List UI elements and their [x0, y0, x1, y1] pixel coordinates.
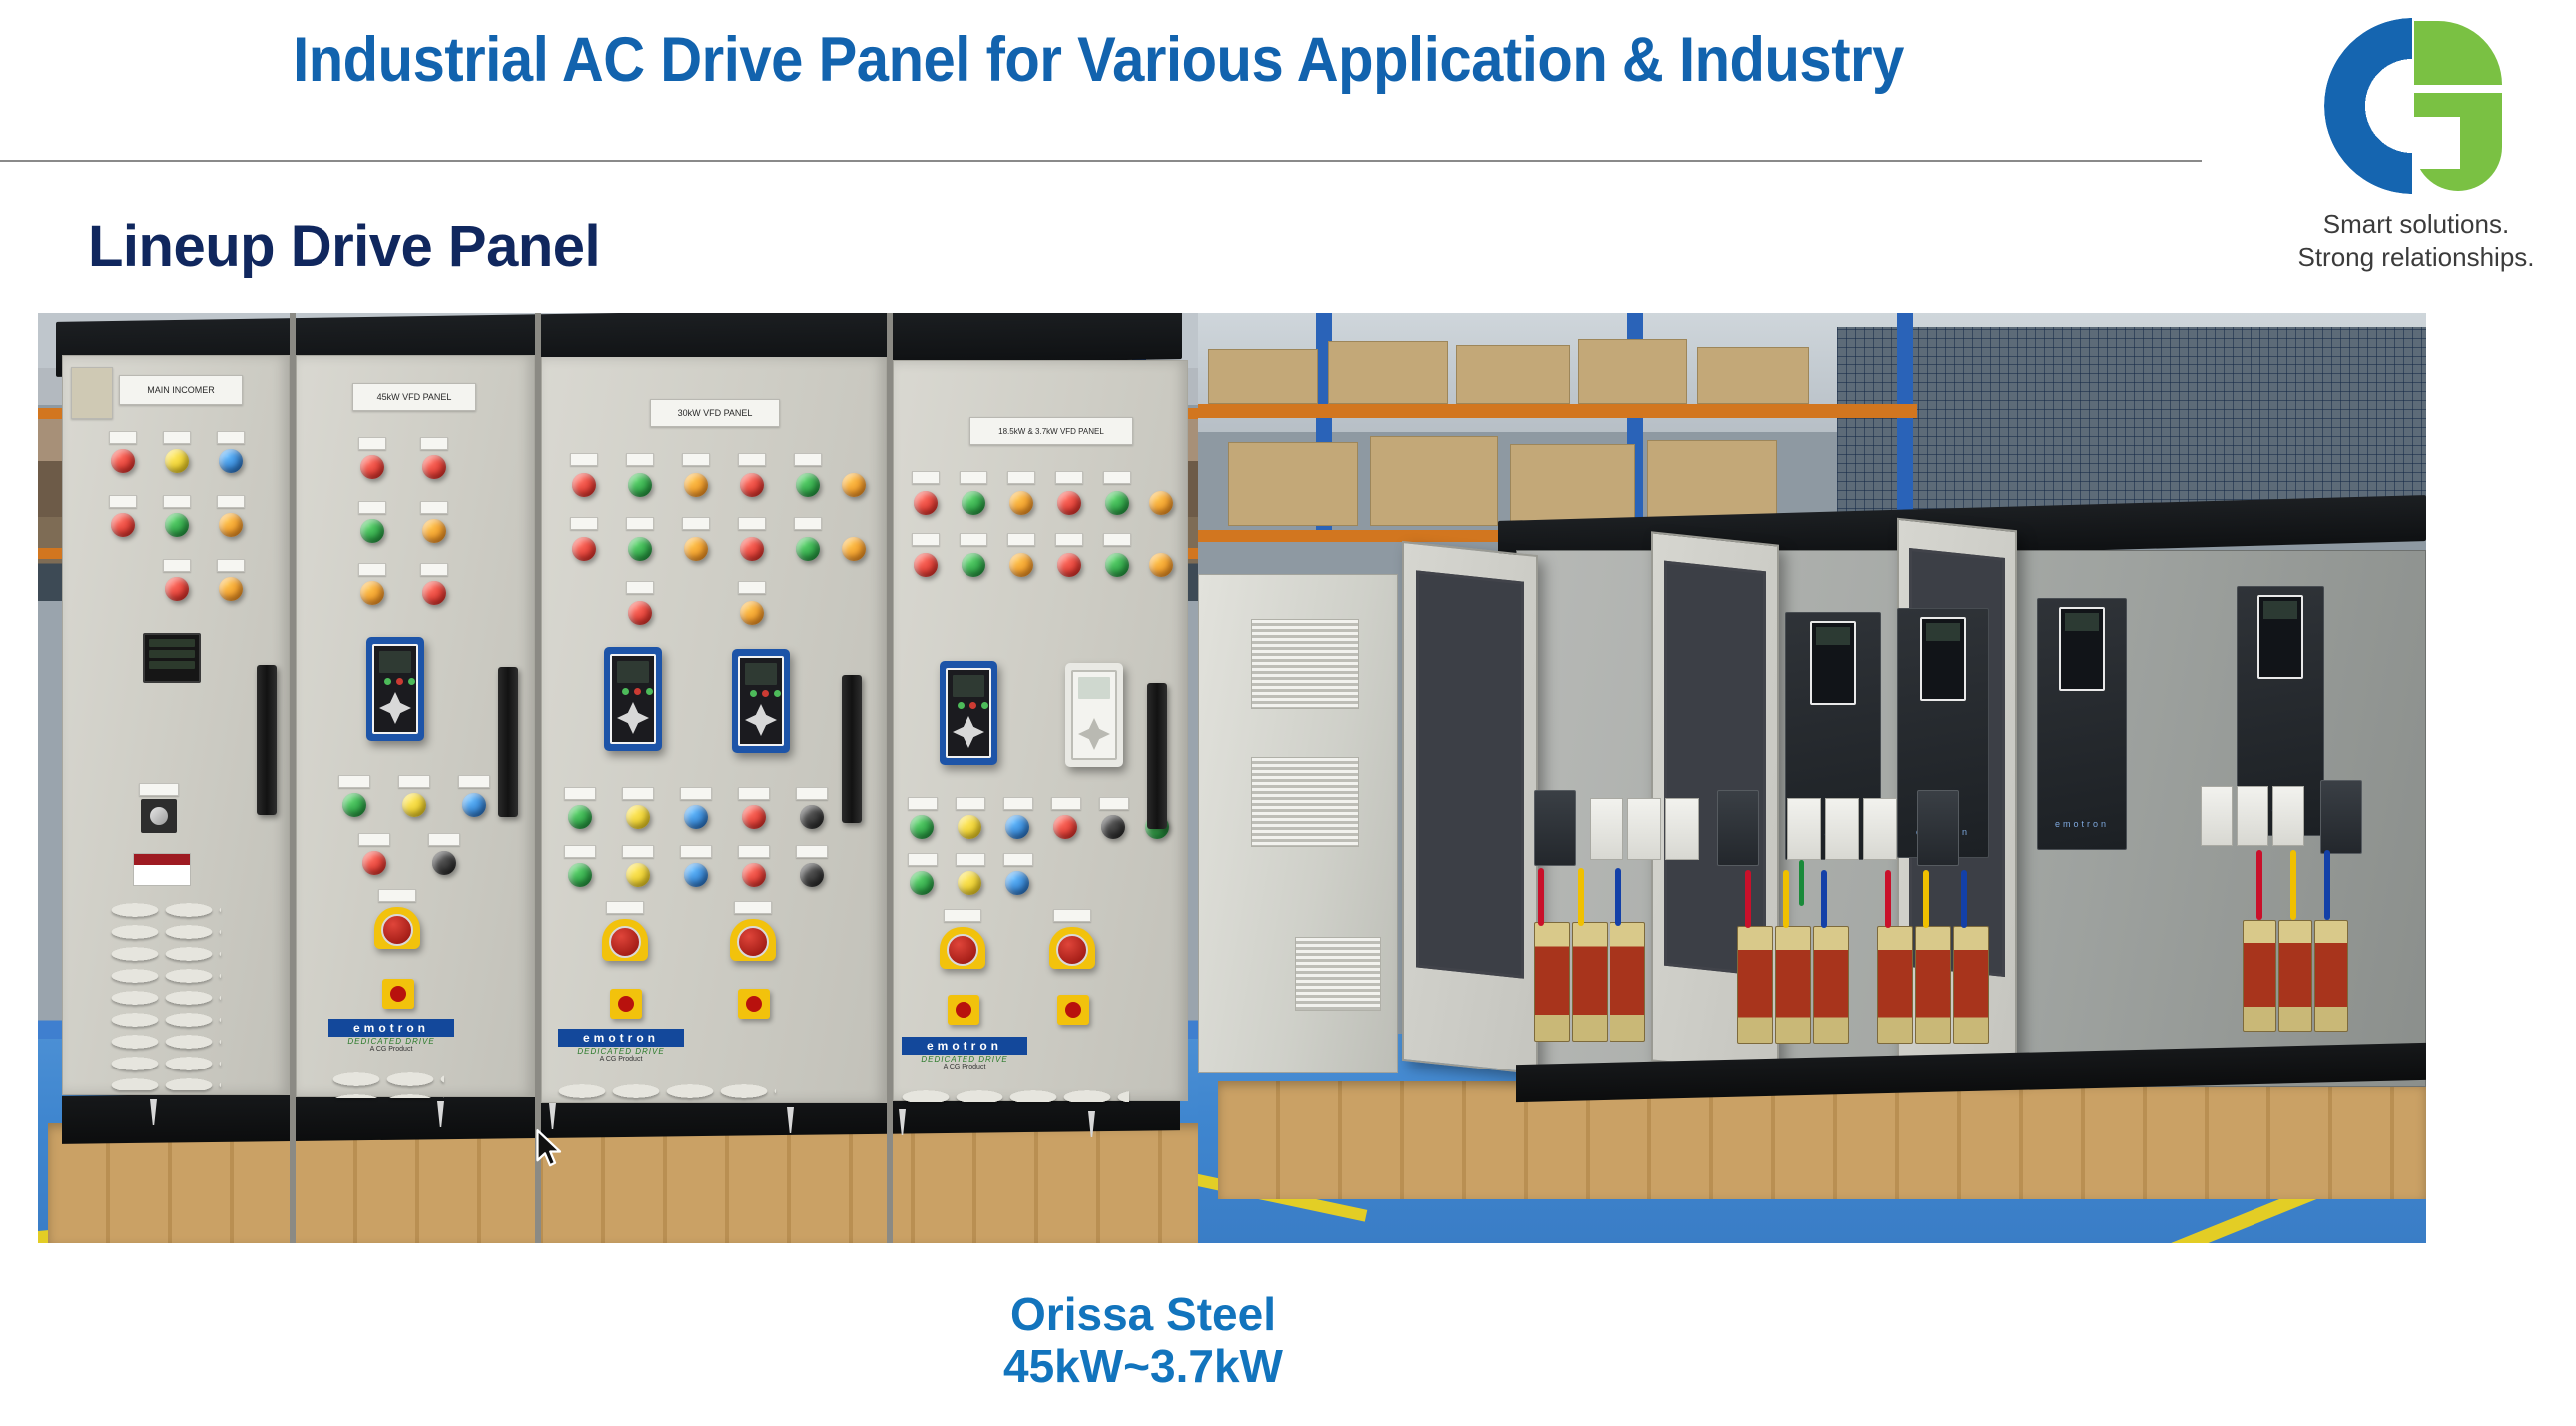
lamp-label	[1103, 533, 1131, 546]
vfd-keypad[interactable]	[1810, 621, 1856, 705]
lamp-label	[570, 517, 598, 530]
panel-nameplate: 30kW VFD PANEL	[650, 399, 780, 427]
button-label	[680, 845, 712, 858]
line-reactor	[1953, 926, 1989, 1044]
button-label	[956, 797, 985, 810]
pushbutton-green[interactable]	[910, 815, 934, 839]
lamp-label	[682, 517, 710, 530]
emotron-subtitle: DEDICATED DRIVE	[558, 1047, 684, 1056]
indicator-lamp-amber	[1149, 553, 1173, 577]
lamp-label	[912, 533, 940, 546]
vfd-hmi-keypad[interactable]	[1065, 663, 1123, 767]
emergency-stop-button[interactable]	[737, 926, 769, 958]
power-wire-red	[1885, 870, 1891, 928]
emotron-cg-endorsement: A CG Product	[902, 1064, 1027, 1070]
contactor	[1627, 798, 1661, 860]
pushbutton-red[interactable]	[362, 851, 386, 875]
hmi-status-dot-green	[646, 688, 653, 695]
estop-label	[606, 901, 644, 914]
estop-label	[734, 901, 772, 914]
button-label	[338, 775, 370, 788]
indicator-lamp-red	[422, 581, 446, 605]
stored-box	[1328, 341, 1448, 404]
pushbutton-green[interactable]	[342, 793, 366, 817]
logo-g-cut	[2414, 117, 2460, 169]
power-wire-blue	[1615, 868, 1621, 926]
contactor	[1665, 798, 1699, 860]
indicator-lamp-amber	[219, 513, 243, 537]
lamp-label	[163, 559, 191, 572]
panel-30kw-vfd[interactable]: 30kW VFD PANEL	[541, 356, 887, 1103]
button-label	[908, 797, 938, 810]
lamp-label	[1007, 471, 1035, 484]
emergency-stop-guard	[1049, 927, 1095, 969]
pushbutton-red[interactable]	[742, 863, 766, 887]
stored-box	[1578, 339, 1687, 404]
lamp-label	[1055, 533, 1083, 546]
indicator-lamp-red	[360, 455, 384, 479]
line-reactor	[1534, 922, 1570, 1042]
lamp-label	[960, 471, 987, 484]
hmi-status-dot-green	[774, 690, 781, 697]
lamp-label	[738, 581, 766, 594]
indicator-lamp-red	[111, 513, 135, 537]
stored-box	[1208, 349, 1318, 404]
hmi-status-dot-red	[762, 690, 769, 697]
circuit-breaker	[2320, 780, 2362, 854]
pushbutton-blue[interactable]	[1005, 871, 1029, 895]
lamp-label	[217, 431, 245, 444]
emotron-cg-endorsement: A CG Product	[558, 1056, 684, 1063]
line-reactor	[2278, 920, 2312, 1032]
hmi-status-dot-green	[750, 690, 757, 697]
indicator-lamp-red	[740, 537, 764, 561]
cg-logo-mark	[2324, 18, 2508, 194]
lamp-label	[217, 559, 245, 572]
lamp-label	[570, 453, 598, 466]
button-label	[1003, 853, 1033, 866]
closed-cabinet-with-louvers[interactable]	[1198, 574, 1398, 1073]
indicator-lamp-amber	[684, 473, 708, 497]
button-label	[398, 775, 430, 788]
danger-high-voltage-label	[133, 853, 191, 886]
emotron-brand-badge: emotron DEDICATED DRIVE A CG Product	[558, 1029, 684, 1063]
lamp-label	[420, 437, 448, 450]
hmi-screen	[738, 656, 784, 746]
button-label	[680, 787, 712, 800]
power-wire-red	[1538, 868, 1544, 926]
stored-box	[1510, 444, 1635, 526]
indicator-lamp-red	[572, 537, 596, 561]
vfd-keypad-screen	[2263, 601, 2297, 619]
button-label	[622, 845, 654, 858]
panel-nameplate: 18.5kW & 3.7kW VFD PANEL	[969, 417, 1133, 445]
lamp-label	[109, 495, 137, 508]
rotary-knob	[746, 996, 762, 1012]
emotron-wordmark: emotron	[902, 1037, 1027, 1055]
button-label	[564, 787, 596, 800]
lamp-label	[626, 453, 654, 466]
circuit-breaker	[1717, 790, 1759, 866]
emotron-subtitle: DEDICATED DRIVE	[328, 1037, 454, 1046]
indicator-lamp-amber	[684, 537, 708, 561]
contactor	[1787, 798, 1821, 860]
rotary-isolator[interactable]	[610, 989, 642, 1019]
lamp-label	[626, 517, 654, 530]
rotary-knob	[1065, 1002, 1081, 1018]
pushbutton-blue[interactable]	[684, 863, 708, 887]
hmi-navigation-pad[interactable]	[745, 704, 777, 736]
contactor	[2237, 786, 2268, 846]
lamp-label	[626, 581, 654, 594]
selector-knob	[150, 807, 168, 825]
button-label	[564, 845, 596, 858]
vfd-hmi-keypad[interactable]	[604, 647, 662, 751]
lamp-label	[960, 533, 987, 546]
indicator-lamp-red	[1057, 491, 1081, 515]
indicator-lamp-amber	[740, 601, 764, 625]
door-window-frame	[1416, 570, 1524, 979]
stored-box	[1456, 345, 1570, 404]
rotary-isolator[interactable]	[738, 989, 770, 1019]
logo-green-g	[2414, 21, 2502, 191]
rating-plate	[71, 367, 113, 419]
line-reactor	[2243, 920, 2276, 1032]
photo-stage: MAIN INCOMER	[38, 313, 2426, 1243]
contactor	[1590, 798, 1623, 860]
vfd-keypad-screen	[2065, 613, 2099, 631]
hmi-display	[617, 661, 649, 683]
caption-line-customer: Orissa Steel	[0, 1288, 2286, 1340]
button-label	[908, 853, 938, 866]
rotary-isolator[interactable]	[382, 979, 414, 1009]
photo-caption: Orissa Steel 45kW~3.7kW	[0, 1288, 2286, 1392]
hmi-status-dot-green	[622, 688, 629, 695]
contactor	[2272, 786, 2304, 846]
emotron-brand-badge: emotron DEDICATED DRIVE A CG Product	[902, 1037, 1027, 1070]
lamp-label	[794, 517, 822, 530]
button-label	[796, 845, 828, 858]
section-heading: Lineup Drive Panel	[88, 213, 600, 280]
selector-label	[139, 783, 179, 796]
emotron-wordmark: emotron	[2038, 819, 2126, 829]
emergency-stop-button[interactable]	[381, 914, 413, 946]
ventilation-louvers	[109, 901, 221, 1090]
button-label	[622, 787, 654, 800]
pushbutton-yellow[interactable]	[958, 871, 981, 895]
lamp-label	[738, 517, 766, 530]
contactor	[1863, 798, 1897, 860]
lamp-label	[1007, 533, 1035, 546]
lamp-label	[109, 431, 137, 444]
earth-wire-green	[1799, 860, 1804, 906]
lamp-label	[163, 431, 191, 444]
indicator-lamp-green	[165, 513, 189, 537]
contactor	[2201, 786, 2233, 846]
lamp-label	[420, 501, 448, 514]
indicator-lamp-green	[796, 473, 820, 497]
slide-header: Industrial AC Drive Panel for Various Ap…	[0, 0, 2576, 170]
pushbutton-black[interactable]	[432, 851, 456, 875]
ventilation-louver-grille	[1295, 937, 1381, 1011]
button-label	[1099, 797, 1129, 810]
page-title: Industrial AC Drive Panel for Various Ap…	[88, 24, 2109, 96]
stored-box	[1697, 347, 1809, 404]
hmi-navigation-pad[interactable]	[617, 702, 649, 734]
meter-display-row	[149, 650, 195, 658]
ventilation-louvers	[900, 1088, 1129, 1102]
vfd-keypad[interactable]	[2257, 595, 2303, 679]
caption-line-rating: 45kW~3.7kW	[0, 1340, 2286, 1392]
button-label	[358, 833, 390, 846]
meter-display-row	[149, 661, 195, 669]
lamp-label	[358, 437, 386, 450]
hmi-status-dot-green	[981, 702, 988, 709]
danger-text-area	[134, 865, 190, 885]
ventilation-louvers	[330, 1070, 444, 1098]
power-wire-red	[1745, 870, 1751, 928]
hmi-screen	[1071, 670, 1117, 760]
rotary-knob	[956, 1002, 971, 1018]
vfd-keypad[interactable]	[2059, 607, 2105, 691]
indicator-lamp-amber	[1149, 491, 1173, 515]
pushbutton-yellow[interactable]	[626, 805, 650, 829]
button-label	[738, 845, 770, 858]
logo-tagline-line1: Smart solutions.	[2286, 208, 2546, 241]
emergency-stop-button[interactable]	[1056, 934, 1088, 966]
hmi-display	[379, 651, 411, 673]
rotary-isolator[interactable]	[948, 995, 979, 1025]
hmi-display	[745, 663, 777, 685]
hmi-screen	[946, 668, 991, 758]
line-reactor	[1877, 926, 1913, 1044]
indicator-lamp-red	[628, 601, 652, 625]
indicator-lamp-amber	[842, 537, 866, 561]
estop-label	[944, 909, 981, 922]
button-label	[428, 833, 460, 846]
ventilation-louver-grille	[1251, 757, 1359, 847]
stored-box	[1228, 442, 1358, 526]
lamp-label	[217, 495, 245, 508]
vfd-keypad[interactable]	[1920, 617, 1966, 701]
power-wire-blue	[1961, 870, 1967, 928]
vfd-hmi-keypad[interactable]	[366, 637, 424, 741]
indicator-lamp-amber	[219, 577, 243, 601]
power-wire-yellow	[2290, 850, 2296, 920]
indicator-lamp-red	[165, 577, 189, 601]
hmi-status-dot-green	[384, 678, 391, 685]
indicator-lamp-green	[1105, 491, 1129, 515]
logo-g-top	[2414, 21, 2502, 85]
button-label	[796, 787, 828, 800]
photo-lineup-panels-closed: MAIN INCOMER	[38, 313, 1198, 1243]
emotron-cg-endorsement: A CG Product	[328, 1046, 454, 1053]
emotron-wordmark: emotron	[328, 1019, 454, 1037]
power-wire-red	[2256, 850, 2262, 920]
pushbutton-blue[interactable]	[684, 805, 708, 829]
rotary-isolator[interactable]	[1057, 995, 1089, 1025]
emergency-stop-button[interactable]	[947, 934, 978, 966]
button-label	[458, 775, 490, 788]
logo-g-bar	[2414, 93, 2502, 115]
line-reactor	[1610, 922, 1645, 1042]
vfd-keypad-screen	[1816, 627, 1850, 645]
lamp-label	[163, 495, 191, 508]
estop-label	[378, 889, 416, 902]
pushbutton-yellow[interactable]	[958, 815, 981, 839]
hmi-screen	[372, 644, 418, 734]
indicator-lamp-green	[628, 537, 652, 561]
indicator-lamp-green	[1105, 553, 1129, 577]
indicator-lamp-green	[360, 519, 384, 543]
button-label	[738, 787, 770, 800]
meter-display-row	[149, 639, 195, 647]
indicator-lamp-amber	[842, 473, 866, 497]
circuit-breaker	[1917, 790, 1959, 866]
emergency-stop-guard	[940, 927, 985, 969]
hmi-status-dot-red	[969, 702, 976, 709]
line-reactor	[2314, 920, 2348, 1032]
panel-18-5kw-3-7kw-vfd[interactable]: 18.5kW & 3.7kW VFD PANEL	[893, 360, 1188, 1101]
indicator-lamp-red	[740, 473, 764, 497]
power-wire-blue	[1821, 870, 1827, 928]
door-handle[interactable]	[498, 667, 518, 817]
indicator-lamp-amber	[360, 581, 384, 605]
line-reactor	[1775, 926, 1811, 1044]
rotary-knob	[390, 986, 406, 1002]
pushbutton-yellow[interactable]	[626, 863, 650, 887]
hmi-navigation-pad[interactable]	[379, 692, 411, 724]
pushbutton-black[interactable]	[800, 805, 824, 829]
power-wire-yellow	[1923, 870, 1929, 928]
pushbutton-black[interactable]	[1101, 815, 1125, 839]
lamp-label	[738, 453, 766, 466]
hmi-display	[953, 675, 984, 697]
button-label	[1051, 797, 1081, 810]
indicator-lamp-red	[111, 449, 135, 473]
stored-box	[1370, 436, 1498, 526]
vfd-keypad-screen	[1926, 623, 1960, 641]
vfd-hmi-keypad[interactable]	[940, 661, 997, 765]
power-wire-yellow	[1578, 868, 1584, 926]
indicator-lamp-red	[1057, 553, 1081, 577]
lamp-label	[358, 501, 386, 514]
ventilation-louver-grille	[1251, 619, 1359, 709]
power-wire-blue	[2324, 850, 2330, 920]
logo-tagline-line2: Strong relationships.	[2286, 241, 2546, 274]
button-label	[1003, 797, 1033, 810]
lamp-label	[794, 453, 822, 466]
pushbutton-red[interactable]	[1053, 815, 1077, 839]
circuit-breaker	[1534, 790, 1576, 866]
hmi-navigation-pad[interactable]	[1078, 718, 1110, 750]
lamp-label	[682, 453, 710, 466]
line-reactor	[1737, 926, 1773, 1044]
indicator-lamp-yellow	[165, 449, 189, 473]
emergency-stop-button[interactable]	[609, 926, 641, 958]
hmi-status-dot-red	[396, 678, 403, 685]
danger-banner	[134, 854, 190, 865]
photo-panels-open-interior: emotron emotron emotron emotron	[1198, 313, 2426, 1243]
indicator-lamp-amber	[1009, 553, 1033, 577]
cg-logo: Smart solutions. Strong relationships.	[2286, 18, 2546, 268]
hmi-display	[1078, 677, 1110, 699]
hmi-navigation-pad[interactable]	[953, 716, 984, 748]
line-reactor	[1572, 922, 1608, 1042]
panel-nameplate: MAIN INCOMER	[119, 375, 243, 405]
estop-label	[1053, 909, 1091, 922]
hmi-status-dot-green	[408, 678, 415, 685]
indicator-lamp-red	[914, 553, 938, 577]
indicator-lamp-green	[962, 553, 985, 577]
indicator-lamp-red	[914, 491, 938, 515]
emergency-stop-guard	[374, 907, 420, 949]
indicator-lamp-amber	[1009, 491, 1033, 515]
logo-tagline: Smart solutions. Strong relationships.	[2286, 208, 2546, 274]
selector-switch[interactable]	[141, 799, 177, 833]
door-handle[interactable]	[842, 675, 862, 823]
pushbutton-green[interactable]	[568, 863, 592, 887]
button-label	[956, 853, 985, 866]
panel-main-incomer[interactable]: MAIN INCOMER	[62, 355, 290, 1095]
emotron-wordmark: emotron	[558, 1029, 684, 1047]
rack-beam	[1198, 404, 1917, 418]
indicator-lamp-blue	[219, 449, 243, 473]
power-wire-yellow	[1783, 870, 1789, 928]
digital-multifunction-meter[interactable]	[143, 633, 201, 683]
vfd-drive-unit[interactable]: emotron	[2037, 598, 2127, 850]
lamp-label	[1055, 471, 1083, 484]
pushbutton-green[interactable]	[910, 871, 934, 895]
lamp-label	[912, 471, 940, 484]
wooden-pallet	[1218, 1081, 2426, 1199]
open-cabinet-door[interactable]	[1402, 541, 1538, 1074]
emergency-stop-guard	[730, 919, 776, 961]
lamp-label	[420, 563, 448, 576]
hmi-screen	[610, 654, 656, 744]
line-reactor	[1813, 926, 1849, 1044]
panel-nameplate: 45kW VFD PANEL	[352, 383, 476, 411]
lamp-label	[358, 563, 386, 576]
vfd-hmi-keypad[interactable]	[732, 649, 790, 753]
indicator-lamp-green	[962, 491, 985, 515]
indicator-lamp-green	[628, 473, 652, 497]
indicator-lamp-red	[572, 473, 596, 497]
door-handle[interactable]	[257, 665, 277, 815]
indicator-lamp-red	[422, 455, 446, 479]
emergency-stop-guard	[602, 919, 648, 961]
emotron-brand-badge: emotron DEDICATED DRIVE A CG Product	[328, 1019, 454, 1053]
hmi-status-dot-red	[634, 688, 641, 695]
pushbutton-yellow[interactable]	[402, 793, 426, 817]
hmi-status-dot-green	[958, 702, 965, 709]
indicator-lamp-green	[796, 537, 820, 561]
rotary-knob	[618, 996, 634, 1012]
ventilation-louvers	[556, 1082, 776, 1104]
header-divider	[0, 160, 2202, 162]
door-handle[interactable]	[1147, 683, 1167, 829]
lamp-label	[1103, 471, 1131, 484]
pushbutton-green[interactable]	[568, 805, 592, 829]
pushbutton-black[interactable]	[800, 863, 824, 887]
emotron-subtitle: DEDICATED DRIVE	[902, 1055, 1027, 1064]
pushbutton-blue[interactable]	[1005, 815, 1029, 839]
pushbutton-red[interactable]	[742, 805, 766, 829]
panel-45kw-vfd[interactable]: 45kW VFD PANEL	[296, 355, 535, 1097]
pushbutton-blue[interactable]	[462, 793, 486, 817]
contactor	[1825, 798, 1859, 860]
line-reactor	[1915, 926, 1951, 1044]
